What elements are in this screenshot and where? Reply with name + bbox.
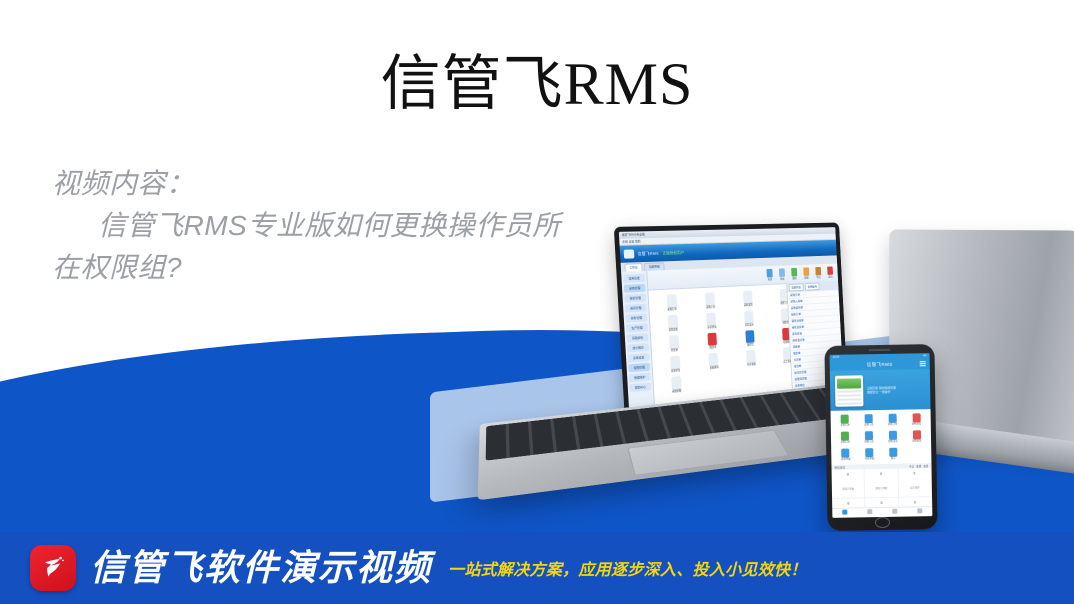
module-icon-item[interactable]: 收款单 — [694, 332, 731, 351]
phone-grid-label: 采购订单 — [841, 441, 851, 444]
module-icon — [667, 294, 677, 307]
sidebar-item[interactable]: 库存管理 — [625, 304, 647, 313]
sidebar-item[interactable]: 基础资料 — [627, 333, 649, 342]
toolbar-button[interactable]: 导出 — [814, 267, 823, 279]
toolbar-icon — [779, 268, 785, 277]
module-icon-label: 库存盘点 — [745, 323, 754, 326]
toolbar-button[interactable]: 刷新 — [802, 267, 811, 279]
hero-card-lines — [837, 390, 861, 404]
phone-grid-label: 销售退货 — [912, 423, 922, 426]
phone-grid-icon — [888, 414, 896, 423]
phone-stat-cell: 0销售订单数 — [865, 469, 899, 499]
phone-stat-value: 0 — [865, 501, 897, 506]
sidebar-item[interactable]: 财务管理 — [625, 313, 647, 322]
module-icon-label: 采购退货 — [744, 304, 753, 307]
phone-app-title: 信管飞RMS — [867, 361, 893, 367]
module-icon-item[interactable]: 系统参数 — [657, 375, 695, 395]
phone-grid-icon — [841, 431, 849, 440]
toolbar-icon — [803, 267, 809, 276]
sidebar-item[interactable]: 系统设置 — [628, 353, 650, 363]
phone-grid-label: 采购订单 — [840, 425, 850, 428]
phone-grid-icon — [889, 447, 897, 456]
page-title: 信管飞RMS — [0, 48, 1074, 120]
right-panel-tab[interactable]: 功能列表 — [789, 283, 804, 291]
module-icon — [709, 353, 718, 366]
phone-grid-item[interactable]: 采购入库 — [857, 414, 880, 427]
module-icon-label: 付款单 — [671, 349, 678, 352]
phone-hero-captions: 云端同步 随时随地管理 数据安全 一键备份 — [867, 385, 925, 394]
description-line-3: 在权限组? — [52, 247, 652, 289]
banner-title: 信管飞软件演示视频 — [90, 548, 432, 588]
module-icon-label: 销售退货 — [668, 328, 678, 332]
toolbar-button[interactable]: 退出 — [826, 266, 835, 278]
phone-grid-label: 付款单据 — [865, 458, 875, 461]
slide-canvas: 信管飞RMS 视频内容： 信管飞RMS专业版如何更换操作员所 在权限组? 信管飞… — [0, 0, 1074, 604]
phone-grid-label: 采购入库 — [864, 424, 874, 427]
module-icon-item[interactable]: 采购退货 — [730, 290, 766, 308]
module-icon-item[interactable]: 往来单位 — [656, 355, 694, 375]
module-icon-label: 采购订单 — [667, 308, 677, 311]
doc-icon — [867, 509, 872, 514]
module-icon-label: 库存查询 — [707, 326, 716, 329]
phone-grid-icon — [842, 448, 850, 457]
module-icon — [707, 312, 716, 325]
toolbar-button-label: 删除 — [790, 277, 799, 280]
user-icon — [917, 508, 922, 513]
module-icon-item[interactable]: 销售退货 — [653, 314, 691, 333]
phone-nav-item[interactable]: 统计报表 — [882, 508, 907, 517]
phone-home-button[interactable] — [875, 517, 890, 528]
module-icon-label: 往来单位 — [671, 369, 681, 373]
phone-stat-label: 销售订单数 — [875, 487, 887, 490]
module-icon — [668, 315, 678, 328]
toolbar-button[interactable]: 修改 — [777, 268, 787, 280]
phone-grid-item[interactable]: 收款单据 — [834, 448, 857, 461]
phone-grid-icon — [841, 415, 849, 424]
phone-grid-item[interactable]: 采购订单 — [834, 414, 857, 427]
sidebar-item[interactable]: 销售管理 — [624, 294, 646, 303]
module-icon-label: 操作员 — [747, 343, 754, 346]
phone-stat-cell: 0采购订单数 — [832, 470, 866, 500]
module-icon-item[interactable]: 商品资料 — [695, 352, 732, 371]
toolbar-button-label: 导出 — [814, 276, 823, 279]
module-icon-label: 仓库资料 — [747, 363, 756, 367]
module-icon — [743, 290, 752, 303]
home-icon — [842, 510, 847, 515]
module-icon-label: 商品资料 — [710, 366, 719, 370]
phone-grid-item[interactable]: 采购订单 — [834, 431, 857, 444]
phone-grid-label: 销售出库 — [888, 441, 898, 444]
phone-hero-banner: 云端同步 随时随地管理 数据安全 一键备份 — [830, 369, 931, 411]
description-line-1: 视频内容： — [52, 163, 652, 205]
module-icon — [706, 292, 715, 305]
phone-grid-item[interactable]: 销售订单 — [881, 414, 904, 427]
module-icon — [671, 376, 681, 389]
module-icon — [744, 310, 753, 323]
banner-tagline: 一站式解决方案，应用逐步深入、投入小见效快！ — [448, 556, 807, 580]
toolbar-button[interactable]: 新增 — [765, 269, 775, 282]
module-icon-label: 系统参数 — [672, 390, 681, 394]
sidebar-item[interactable]: 权限管理 — [628, 363, 650, 373]
module-icon-label: 收款单 — [710, 346, 717, 349]
sidebar-item[interactable]: 生产管理 — [626, 323, 648, 332]
phone-grid-item[interactable]: 采购退货 — [905, 430, 928, 443]
phone-grid-label: 盘点 — [891, 457, 896, 460]
module-icon-label: 采购入库 — [706, 306, 715, 309]
toolbar-button-label: 刷新 — [802, 277, 811, 280]
toolbar-icon — [815, 267, 821, 275]
phone-grid-item[interactable]: 付款单据 — [858, 448, 881, 461]
toolbar-icon — [791, 268, 797, 277]
module-icon-item[interactable]: 库存盘点 — [731, 310, 767, 328]
module-icon-item[interactable]: 库存查询 — [693, 312, 730, 331]
phone-icon-grid[interactable]: 采购订单采购入库销售订单销售退货采购订单销售入库销售出库采购退货收款单据付款单据… — [831, 409, 932, 465]
right-panel-tab[interactable]: 常用操作 — [805, 283, 820, 291]
video-description: 视频内容： 信管飞RMS专业版如何更换操作员所 在权限组? — [52, 163, 652, 289]
sidebar-item[interactable]: 帮助中心 — [629, 382, 651, 392]
phone-nav-item[interactable]: 单据中心 — [857, 508, 882, 517]
phone-nav-item[interactable]: 首页 — [832, 508, 857, 517]
app-license-badge: 正版授权用户 — [662, 249, 684, 256]
description-line-2: 信管飞RMS专业版如何更换操作员所 — [52, 205, 652, 247]
module-icon-item[interactable]: 仓库资料 — [733, 349, 769, 368]
phone-grid-icon — [913, 430, 921, 439]
phone-device: 10:24 4G 信管飞RMS 云端同步 随时随地管理 数据安全 一键备份 — [824, 344, 937, 531]
module-icon — [746, 350, 755, 363]
toolbar-button[interactable]: 删除 — [789, 268, 799, 280]
phone-grid-label: 销售订单 — [888, 424, 898, 427]
toolbar-button-label: 修改 — [778, 278, 787, 281]
module-icon-item[interactable]: 操作员 — [732, 329, 768, 348]
feiyu-bird-logo-icon — [30, 545, 76, 591]
chart-icon — [892, 509, 897, 514]
phone-grid-item[interactable]: 销售入库 — [858, 431, 881, 444]
hamburger-icon[interactable] — [920, 360, 926, 367]
sidebar-item[interactable]: 数据维护 — [629, 373, 651, 383]
phone-stat-value: 0 — [898, 472, 930, 477]
module-icon — [670, 356, 680, 369]
phone-stat-value: 0 — [832, 502, 864, 507]
phone-stat-label: 库存预警 — [910, 487, 920, 490]
phone-stat-value: 0 — [865, 472, 897, 477]
phone-stat-value: 0 — [832, 473, 864, 478]
phone-grid-label: 收款单据 — [841, 458, 851, 461]
phone-stat-value: 0 — [899, 501, 931, 506]
phone-nav-item[interactable]: 我的 — [907, 507, 932, 516]
phone-grid-icon — [865, 431, 873, 440]
phone-grid-item[interactable]: 盘点 — [882, 447, 905, 460]
phone-grid-item[interactable]: 销售退货 — [905, 413, 928, 426]
phone-stat-label: 采购订单数 — [842, 488, 854, 491]
hero-card-top — [837, 378, 861, 388]
module-icon-item[interactable]: 采购订单 — [652, 294, 691, 313]
module-icon-item[interactable]: 付款单 — [655, 334, 693, 353]
sidebar-item[interactable]: 统计报表 — [627, 343, 649, 352]
phone-grid-icon — [889, 431, 897, 440]
toolbar-icon — [766, 269, 772, 278]
phone-speaker-icon — [868, 349, 890, 351]
toolbar-button-label: 新增 — [765, 278, 774, 281]
phone-grid-icon — [865, 448, 873, 457]
phone-stat-cell: 0库存预警 — [898, 469, 932, 499]
phone-grid-item[interactable]: 销售出库 — [881, 430, 904, 443]
phone-screen: 10:24 4G 信管飞RMS 云端同步 随时随地管理 数据安全 一键备份 — [830, 353, 933, 518]
toolbar-button-label: 退出 — [826, 275, 835, 278]
toolbar-icon — [827, 266, 833, 274]
hero-caption-2: 数据安全 一键备份 — [867, 389, 925, 394]
phone-app-header: 信管飞RMS — [830, 358, 930, 371]
module-icon — [669, 335, 679, 348]
module-icon — [708, 333, 717, 346]
phone-grid-icon — [865, 414, 873, 423]
module-icon-item[interactable]: 采购入库 — [692, 292, 729, 310]
bottom-banner: 信管飞软件演示视频 一站式解决方案，应用逐步深入、投入小见效快！ — [0, 532, 1074, 604]
phone-grid-label: 销售入库 — [864, 441, 874, 444]
description-line-2-text: 信管飞RMS专业版如何更换操作员所 — [98, 210, 561, 241]
phone-hero-card-icon — [835, 375, 864, 406]
phone-grid-label: 采购退货 — [912, 440, 922, 443]
module-icon — [745, 330, 754, 343]
phone-grid-icon — [912, 413, 920, 422]
